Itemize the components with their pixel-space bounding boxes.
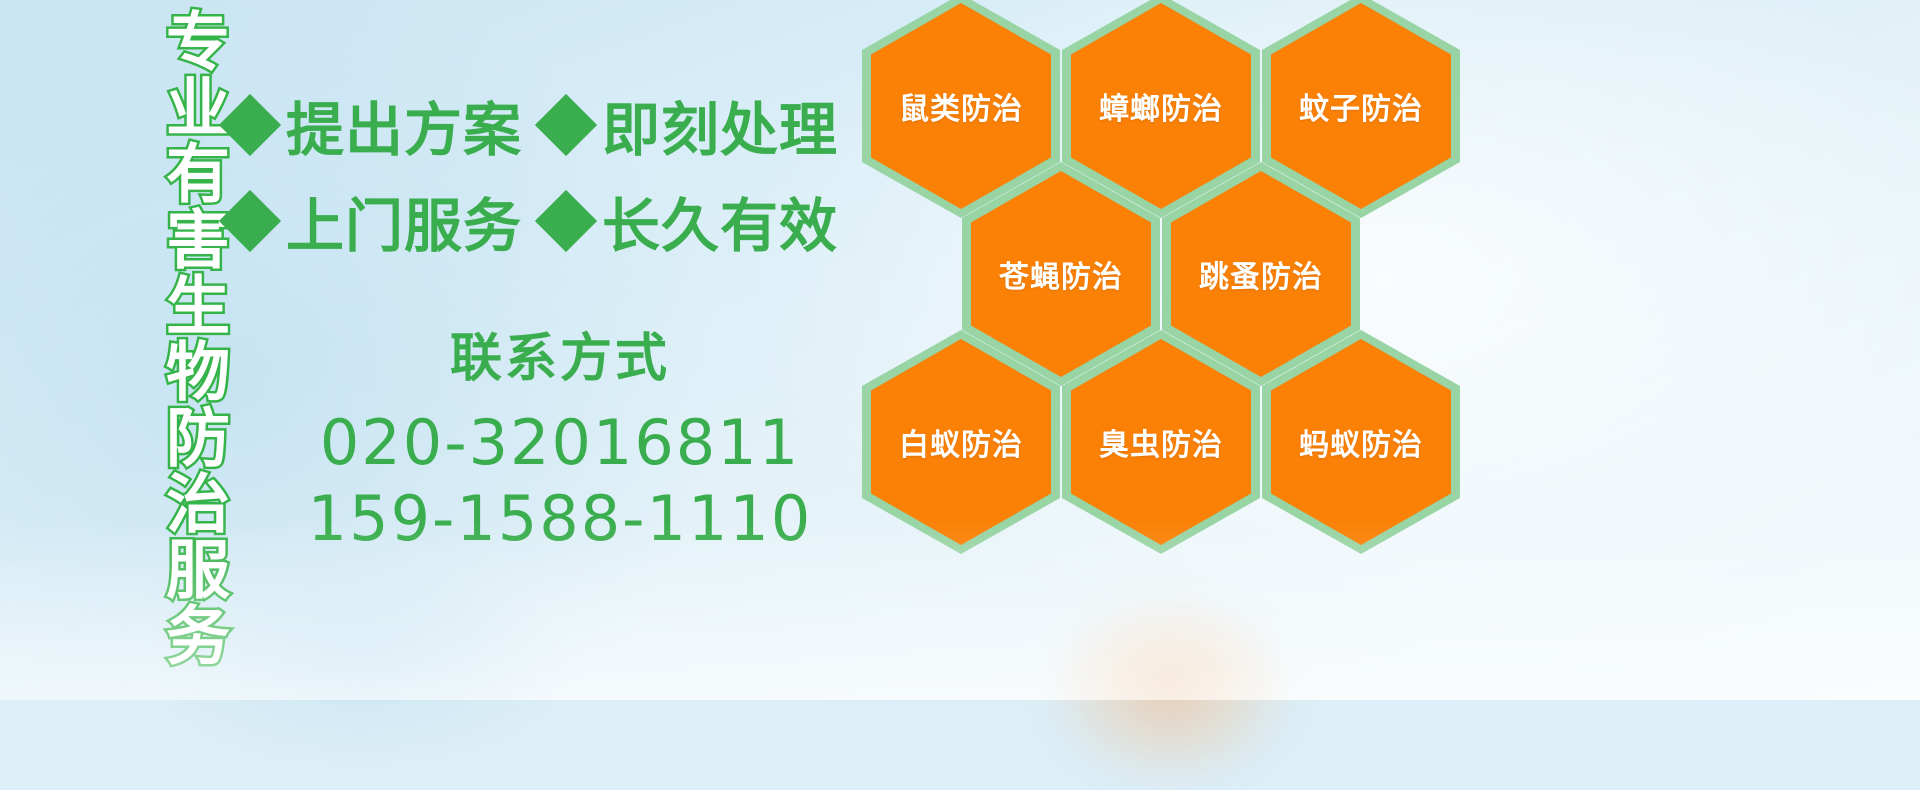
feature-list: 提出方案 即刻处理 上门服务 长久有效: [228, 86, 868, 278]
hex-cell-bedbug[interactable]: 臭虫防治: [1062, 330, 1260, 554]
feature-item: 提出方案: [228, 83, 522, 167]
contact-block: 联系方式 020-32016811 159-1588-1110: [300, 316, 820, 556]
hex-label: 蚂蚁防治: [1299, 420, 1423, 464]
feature-item: 上门服务: [228, 179, 522, 263]
feature-label: 提出方案: [286, 83, 522, 167]
feature-label: 长久有效: [602, 179, 838, 263]
promo-banner: 专业有害生物防治服务 提出方案 即刻处理 上门服务 长久有效 联: [0, 0, 1920, 700]
feature-item: 长久有效: [544, 179, 838, 263]
diamond-icon: [219, 190, 281, 252]
hex-label: 蟑螂防治: [1099, 84, 1223, 128]
hex-cell-ant[interactable]: 蚂蚁防治: [1262, 330, 1460, 554]
hex-label: 白蚁防治: [899, 420, 1023, 464]
diamond-icon: [535, 94, 597, 156]
vertical-title: 专业有害生物防治服务: [104, 8, 224, 568]
diamond-icon: [535, 190, 597, 252]
feature-label: 上门服务: [286, 179, 522, 263]
hex-label: 跳蚤防治: [1199, 252, 1323, 296]
background-glow-right: [1040, 590, 1300, 790]
hex-label: 蚊子防治: [1299, 84, 1423, 128]
phone-number-landline[interactable]: 020-32016811: [300, 405, 820, 481]
hex-label: 苍蝇防治: [999, 252, 1123, 296]
hex-label: 鼠类防治: [899, 84, 1023, 128]
feature-label: 即刻处理: [602, 83, 838, 167]
phone-number-mobile[interactable]: 159-1588-1110: [300, 481, 820, 557]
diamond-icon: [219, 94, 281, 156]
service-hex-grid: 鼠类防治 蟑螂防治 蚊子防治 苍蝇防治 跳蚤防治: [856, 0, 1456, 542]
feature-row: 上门服务 长久有效: [228, 182, 868, 260]
hex-cell-termite[interactable]: 白蚁防治: [862, 330, 1060, 554]
feature-row: 提出方案 即刻处理: [228, 86, 868, 164]
feature-item: 即刻处理: [544, 83, 838, 167]
contact-title: 联系方式: [300, 316, 820, 391]
hex-label: 臭虫防治: [1099, 420, 1223, 464]
